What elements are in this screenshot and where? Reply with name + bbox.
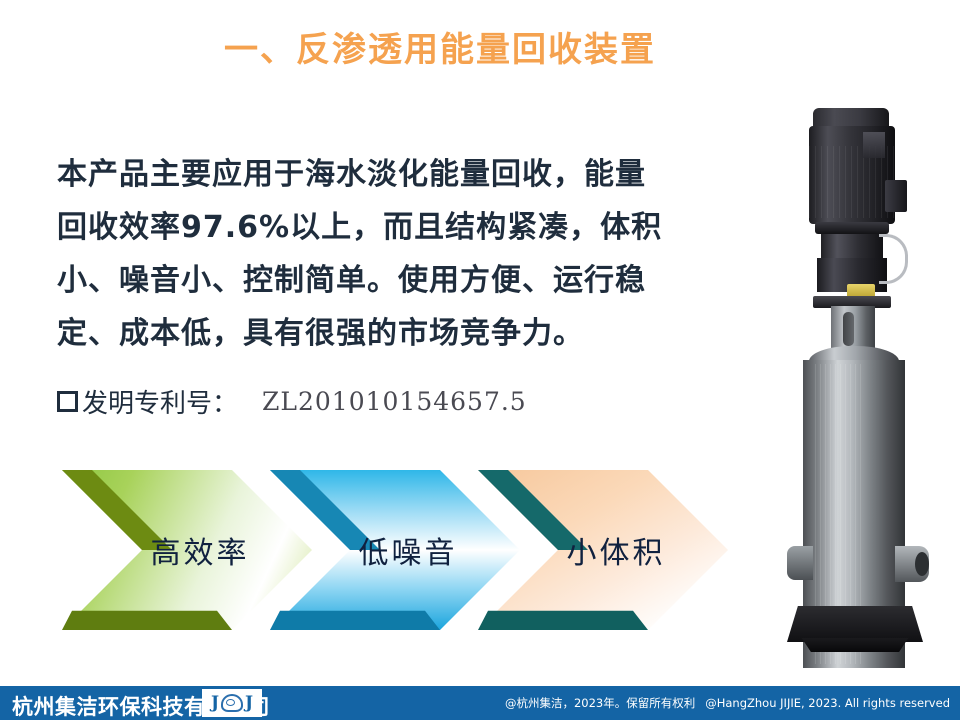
patent-number-row: 发明专利号： ZL201010154657.5 [57,383,527,420]
chevron-label: 小体积 [478,470,728,630]
footer-copyright-cn: @杭州集洁，2023年。保留所有权利 [505,696,695,710]
pump-coupling-flange [815,222,889,234]
pump-inlet-port [787,546,813,580]
patent-number-value: ZL201010154657.5 [262,387,527,416]
body-line-3: 小、噪音小、控制简单。使用方便、运行稳 [57,254,697,307]
pump-outlet-bore [915,552,929,576]
feature-chevron-group: 高效率 低噪音 小体积 [0,470,700,640]
pump-base-plate [787,606,923,642]
logo-swirl-icon [221,694,243,712]
pump-junction-box [885,180,907,212]
footer-copyright-en: @HangZhou JIJIE, 2023. All rights reserv… [705,696,950,710]
body-line-4: 定、成本低，具有很强的市场竞争力。 [57,307,697,360]
body-line-1: 本产品主要应用于海水淡化能量回收，能量 [57,148,697,201]
logo-letter-left: J [211,693,219,713]
slide-root: 一、反渗透用能量回收装置 本产品主要应用于海水淡化能量回收，能量 回收效率97.… [0,0,960,720]
company-logo: J J [202,689,262,717]
pump-motor-nameplate [863,132,885,158]
pump-base-foot [797,638,913,652]
pump-neck-slot [843,312,854,346]
body-paragraph: 本产品主要应用于海水淡化能量回收，能量 回收效率97.6%以上，而且结构紧凑，体… [57,148,697,360]
patent-label: 发明专利号： [82,383,238,420]
square-bullet-icon [57,391,78,412]
pump-handle [879,234,908,284]
page-title: 一、反渗透用能量回收装置 [0,30,880,71]
footer-copyright: @杭州集洁，2023年。保留所有权利@HangZhou JIJIE, 2023.… [505,695,950,711]
product-photo-pump [735,108,950,656]
body-line-2: 回收效率97.6%以上，而且结构紧凑，体积 [57,201,697,254]
logo-letter-right: J [245,693,253,713]
chevron-small-volume[interactable]: 小体积 [478,470,728,630]
